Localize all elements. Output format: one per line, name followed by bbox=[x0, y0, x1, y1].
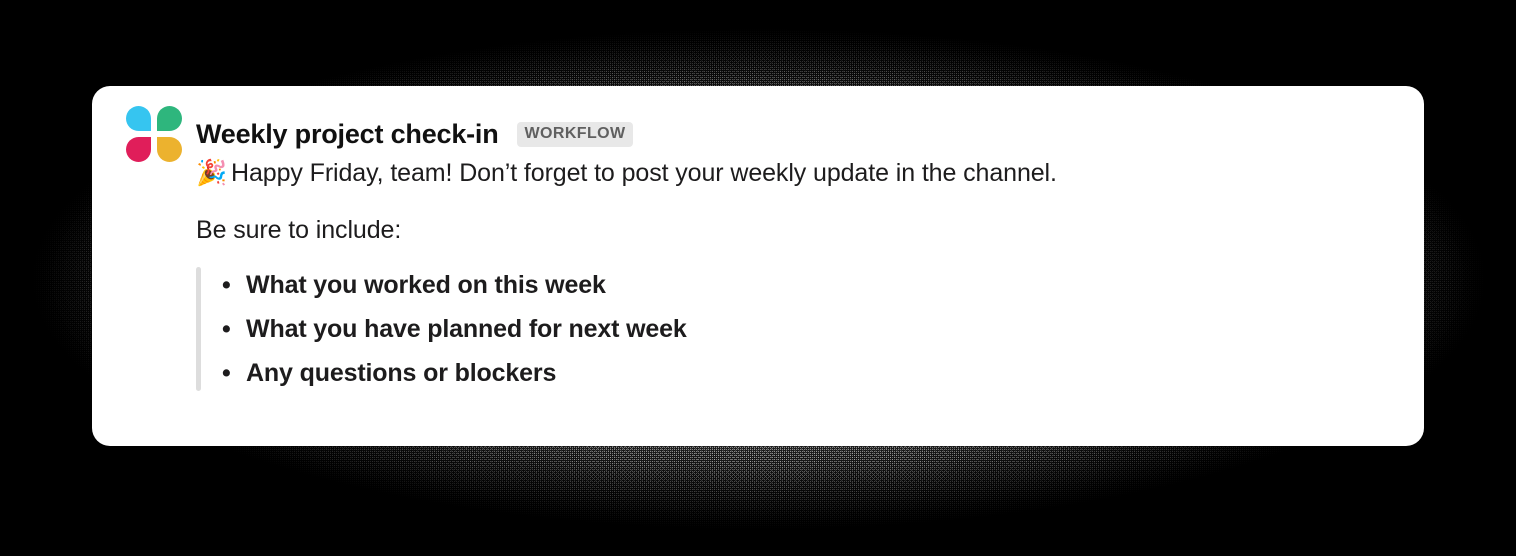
petal-yellow-icon bbox=[157, 137, 182, 162]
message-body: 🎉Happy Friday, team! Don’t forget to pos… bbox=[196, 156, 1390, 395]
workflow-message-card: Weekly project check-in WORKFLOW 🎉Happy … bbox=[92, 86, 1424, 446]
slack-workflow-logo-icon bbox=[126, 106, 182, 162]
list-item: Any questions or blockers bbox=[222, 351, 1390, 395]
intro-text: Be sure to include: bbox=[196, 213, 1390, 248]
greeting-line: 🎉Happy Friday, team! Don’t forget to pos… bbox=[196, 156, 1390, 191]
bullet-blockquote: What you worked on this week What you ha… bbox=[196, 263, 1390, 395]
petal-pink-icon bbox=[126, 137, 151, 162]
greeting-text: Happy Friday, team! Don’t forget to post… bbox=[231, 159, 1057, 187]
petal-green-icon bbox=[157, 106, 182, 131]
backdrop: Weekly project check-in WORKFLOW 🎉Happy … bbox=[0, 0, 1516, 556]
paragraph-spacer bbox=[196, 191, 1390, 213]
party-popper-icon: 🎉 bbox=[196, 159, 227, 187]
petal-blue-icon bbox=[126, 106, 151, 131]
list-item: What you worked on this week bbox=[222, 263, 1390, 307]
workflow-badge: WORKFLOW bbox=[517, 122, 634, 147]
message-sender-name[interactable]: Weekly project check-in bbox=[196, 119, 499, 150]
blockquote-bar bbox=[196, 267, 201, 391]
list-item: What you have planned for next week bbox=[222, 307, 1390, 351]
message-header: Weekly project check-in WORKFLOW bbox=[126, 116, 1390, 152]
checklist: What you worked on this week What you ha… bbox=[222, 263, 1390, 395]
